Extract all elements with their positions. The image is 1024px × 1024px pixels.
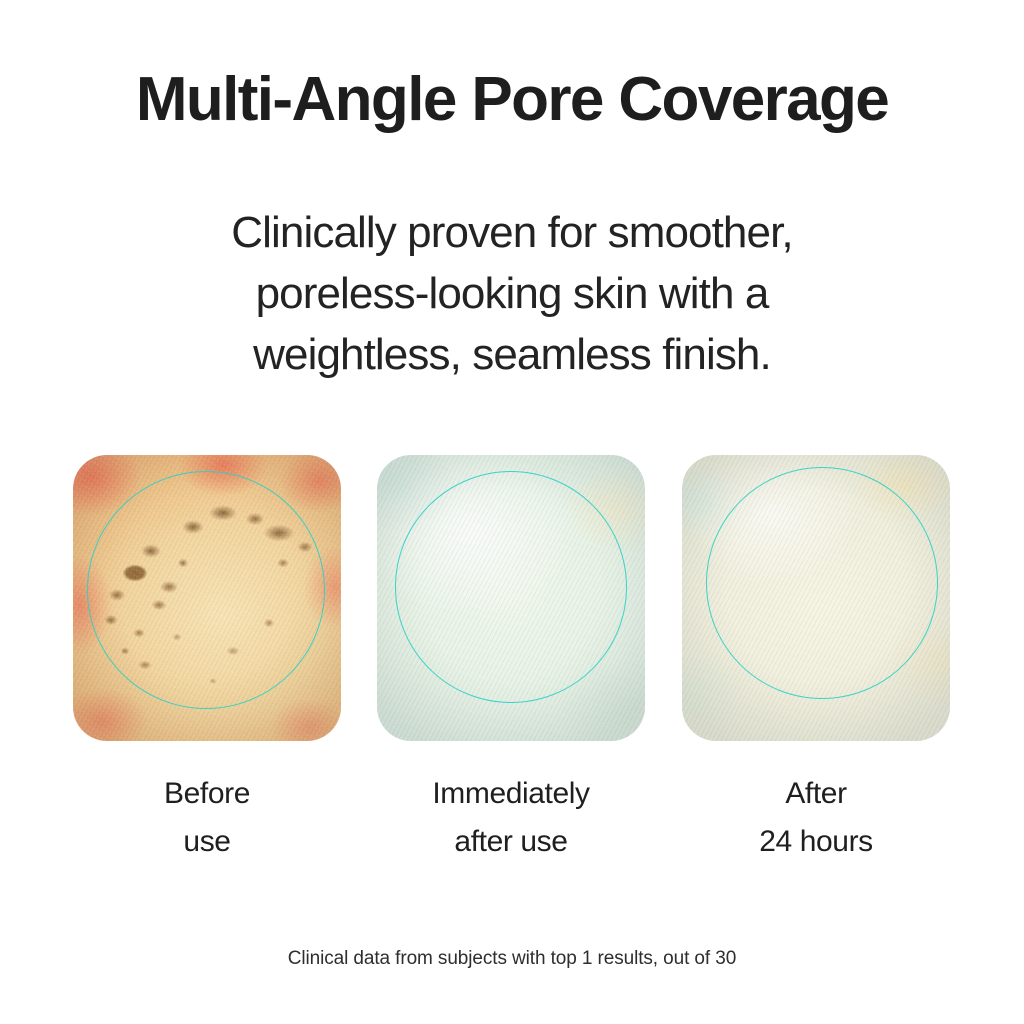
caption-line-2: 24 hours bbox=[682, 818, 950, 866]
skin-texture-overlay bbox=[377, 455, 645, 741]
comparison-panel-row bbox=[0, 455, 1024, 741]
caption-line-2: use bbox=[73, 818, 341, 866]
caption-line-1: After bbox=[682, 770, 950, 818]
skin-macro-image-after-24-hours bbox=[682, 455, 950, 741]
subtitle-line-3: weightless, seamless finish. bbox=[0, 324, 1024, 385]
analysis-circle-icon bbox=[395, 471, 627, 703]
skin-grain-overlay bbox=[73, 455, 341, 741]
comparison-panel-before-use bbox=[73, 455, 341, 741]
caption-line-1: Immediately bbox=[377, 770, 645, 818]
page-title: Multi-Angle Pore Coverage bbox=[0, 64, 1024, 136]
comparison-panel-after-24-hours bbox=[682, 455, 950, 741]
analysis-circle-icon bbox=[706, 467, 938, 699]
skin-macro-image-before-use bbox=[73, 455, 341, 741]
subtitle-line-1: Clinically proven for smoother, bbox=[0, 202, 1024, 263]
subtitle-line-2: poreless-looking skin with a bbox=[0, 263, 1024, 324]
subtitle: Clinically proven for smoother, poreless… bbox=[0, 202, 1024, 385]
analysis-circle-icon bbox=[87, 471, 325, 709]
caption-line-2: after use bbox=[377, 818, 645, 866]
panel-caption-immediately-after-use: Immediately after use bbox=[377, 770, 645, 866]
vignette-overlay bbox=[73, 455, 341, 741]
skin-texture-overlay bbox=[682, 455, 950, 741]
panel-caption-after-24-hours: After 24 hours bbox=[682, 770, 950, 866]
footnote-disclaimer: Clinical data from subjects with top 1 r… bbox=[0, 946, 1024, 972]
skin-grain-overlay bbox=[682, 455, 950, 741]
caption-line-1: Before bbox=[73, 770, 341, 818]
panel-caption-before-use: Before use bbox=[73, 770, 341, 866]
comparison-panel-immediately-after-use bbox=[377, 455, 645, 741]
skin-grain-overlay bbox=[377, 455, 645, 741]
skin-macro-image-immediately-after-use bbox=[377, 455, 645, 741]
promo-graphic-root: Multi-Angle Pore Coverage Clinically pro… bbox=[0, 0, 1024, 1024]
vignette-overlay bbox=[377, 455, 645, 741]
vignette-overlay bbox=[682, 455, 950, 741]
skin-texture-overlay bbox=[73, 455, 341, 741]
